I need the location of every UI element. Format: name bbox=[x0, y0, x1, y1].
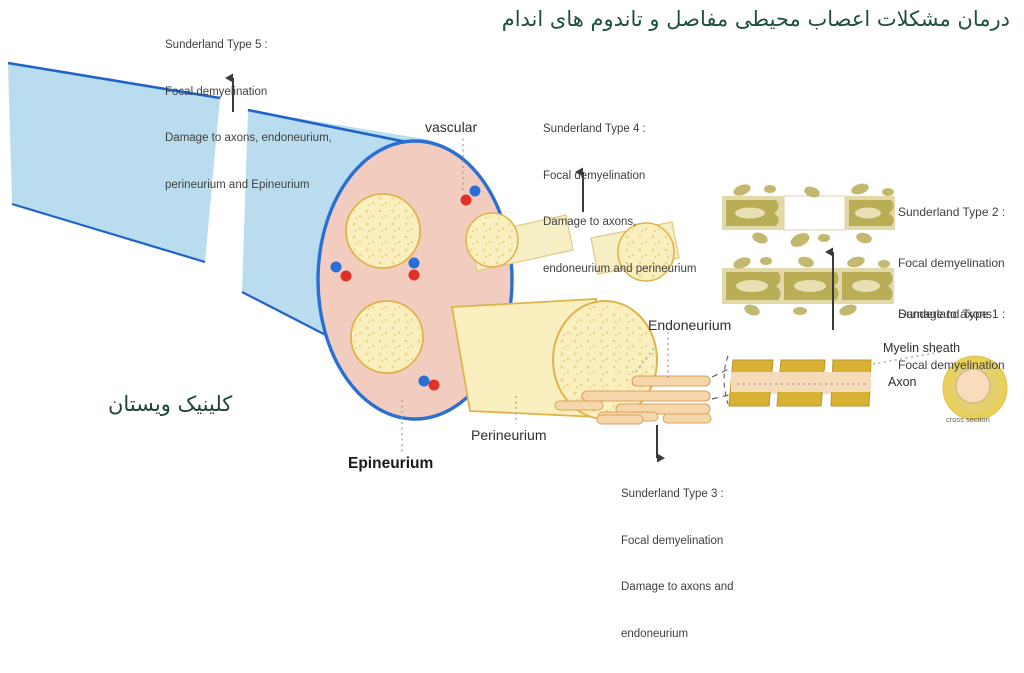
nerve-fiber bbox=[555, 401, 603, 410]
nerve-injury-diagram: درمان مشکلات اعصاب محیطی مفاصل و تاندوم … bbox=[0, 0, 1024, 533]
nerve-fiber bbox=[582, 391, 710, 401]
myelinated-axon-healthy bbox=[724, 356, 871, 406]
myelin-strip-type2 bbox=[722, 182, 895, 250]
axon-left-bracket bbox=[724, 356, 728, 404]
type2-line-1: Focal demyelination bbox=[898, 255, 1005, 272]
label-myelin-sheath: Myelin sheath bbox=[883, 341, 960, 355]
fascicle-upper-left-texture bbox=[348, 196, 418, 266]
label-perineurium: Perineurium bbox=[471, 427, 546, 443]
nerve-fiber-broken bbox=[663, 414, 711, 423]
type2-heading: Sunderland Type 2 : bbox=[898, 204, 1005, 221]
page-title-fa: درمان مشکلات اعصاب محیطی مفاصل و تاندوم … bbox=[502, 6, 1010, 32]
type1-heading: Sunderland Type 1 : bbox=[898, 306, 1005, 323]
sunderland-type5-label: Sunderland Type 5 : Focal demyelination … bbox=[165, 7, 332, 224]
type4-heading: Sunderland Type 4 : bbox=[543, 122, 696, 138]
axon-core-overlay bbox=[731, 372, 871, 392]
type4-line-1: Focal demyelination bbox=[543, 169, 696, 185]
type3-heading: Sunderland Type 3 : bbox=[621, 487, 734, 503]
sunderland-type3-label: Sunderland Type 3 : Focal demyelination … bbox=[621, 456, 734, 673]
fascicle-lower-left-texture bbox=[353, 303, 421, 371]
myelin-strip-type1 bbox=[722, 255, 894, 318]
label-epineurium: Epineurium bbox=[348, 455, 433, 473]
clinic-watermark: کلینیک ویستان bbox=[108, 392, 232, 416]
type5-line-2: Damage to axons, endoneurium, bbox=[165, 131, 332, 147]
label-endoneurium: Endoneurium bbox=[648, 317, 731, 333]
label-vascular: vascular bbox=[425, 119, 477, 135]
type1-inner-lumens bbox=[736, 280, 880, 292]
sunderland-type4-label: Sunderland Type 4 : Focal demyelination … bbox=[543, 91, 696, 308]
type5-heading: Sunderland Type 5 : bbox=[165, 38, 332, 54]
type5-line-1: Focal demyelination bbox=[165, 85, 332, 101]
nerve-fiber-broken bbox=[597, 415, 643, 424]
label-cross-section: cross section bbox=[946, 415, 990, 424]
type3-line-2: Damage to axons and bbox=[621, 580, 734, 596]
nerve-fiber bbox=[632, 376, 710, 386]
type3-line-3: endoneurium bbox=[621, 627, 734, 643]
type5-line-3: perineurium and Epineurium bbox=[165, 178, 332, 194]
diagram-artwork bbox=[0, 0, 1024, 533]
type1-line-1: Focal demyelination bbox=[898, 357, 1005, 374]
type4-line-2: Damage to axons, bbox=[543, 215, 696, 231]
type2-axon-gap bbox=[784, 196, 845, 230]
label-axon: Axon bbox=[888, 375, 917, 389]
type3-line-1: Focal demyelination bbox=[621, 534, 734, 550]
fascicle-type4-proximal-texture bbox=[468, 215, 516, 265]
type4-line-3: endoneurium and perineurium bbox=[543, 262, 696, 278]
